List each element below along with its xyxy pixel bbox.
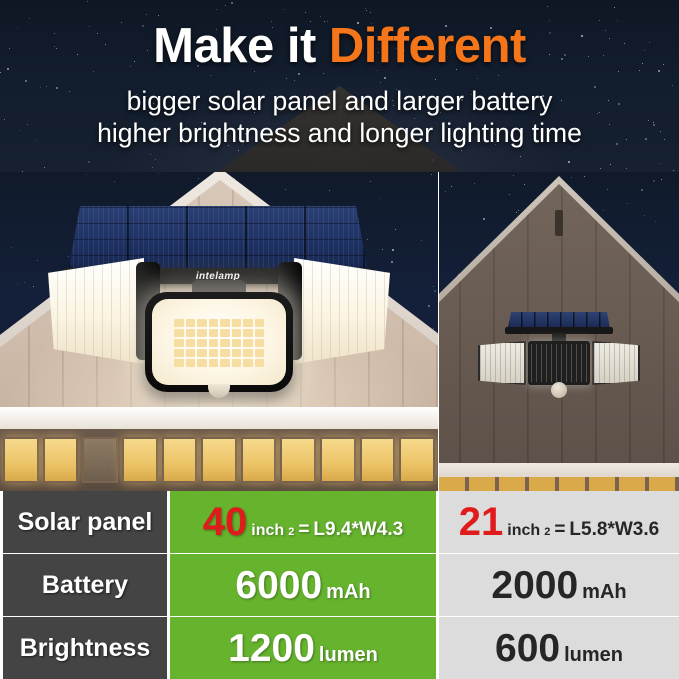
light-head-right-wing-small xyxy=(592,341,640,385)
led-dot xyxy=(232,339,242,347)
row-value-bad-solar-panel: 21inch2=L5.8*W3.6 xyxy=(439,491,679,553)
led-dot xyxy=(186,329,196,337)
value-unit: inch xyxy=(251,522,284,540)
row-value-bad-brightness: 600 lumen xyxy=(439,617,679,679)
table-row: Battery 6000 mAh 2000 mAh xyxy=(0,554,679,616)
value-number: 600 xyxy=(495,629,560,668)
light-head-left-wing xyxy=(48,258,144,364)
led-dot xyxy=(243,359,253,367)
value-detail: L9.4*W4.3 xyxy=(313,519,403,541)
motion-sensor xyxy=(208,384,230,398)
value-number: 2000 xyxy=(491,566,578,605)
title-plain-text: Make it xyxy=(153,19,329,73)
subtitle-line-1: bigger solar panel and larger battery xyxy=(0,87,679,116)
value-unit: mAh xyxy=(326,582,370,602)
house-window xyxy=(201,437,237,483)
value-unit: inch xyxy=(507,522,540,540)
wing-led-stripes-left-small xyxy=(480,343,524,383)
featured-light-fixture: intelamp xyxy=(54,206,384,396)
row-label-text: Solar panel xyxy=(18,508,153,537)
value-unit: mAh xyxy=(582,582,626,602)
row-label-brightness: Brightness xyxy=(3,617,167,679)
house-window xyxy=(43,437,79,483)
led-dot xyxy=(243,349,253,357)
led-dot xyxy=(209,339,219,347)
led-dot xyxy=(209,319,219,327)
table-row: Solar panel 40inch2=L9.4*W4.3 21inch2=L5… xyxy=(0,491,679,553)
led-dot xyxy=(186,349,196,357)
house-windows-row-right xyxy=(439,477,679,491)
led-dot xyxy=(220,329,230,337)
value-number: 6000 xyxy=(235,566,322,605)
led-dot xyxy=(209,349,219,357)
subtitle-line-2: higher brightness and longer lighting ti… xyxy=(0,119,679,148)
led-dot xyxy=(232,349,242,357)
product-photo-strip: intelamp xyxy=(0,172,679,491)
value-number: 40 xyxy=(203,502,248,542)
led-dot xyxy=(197,319,207,327)
value-detail: L5.8*W3.6 xyxy=(569,519,659,541)
photo-divider xyxy=(438,172,439,491)
solar-cells-pattern xyxy=(68,206,368,272)
led-dot xyxy=(232,329,242,337)
solar-panel-large xyxy=(68,206,368,272)
led-dot xyxy=(255,349,265,357)
house-window xyxy=(82,437,118,483)
led-dot xyxy=(174,349,184,357)
led-dot xyxy=(255,329,265,337)
house-window xyxy=(360,437,396,483)
led-dot xyxy=(243,329,253,337)
led-dot xyxy=(197,349,207,357)
solar-panel-small xyxy=(508,312,610,328)
led-dot xyxy=(220,349,230,357)
led-dot xyxy=(186,359,196,367)
row-value-bad-battery: 2000 mAh xyxy=(439,554,679,616)
led-dot xyxy=(255,359,265,367)
page-title: Make it Different xyxy=(0,22,679,71)
photo-right-competitor-product xyxy=(439,172,679,491)
measure-good-2: 1200 lumen xyxy=(228,629,378,668)
product-comparison-page: Make it Different bigger solar panel and… xyxy=(0,0,679,679)
measure-bad-0: 21inch2=L5.8*W3.6 xyxy=(459,502,659,542)
led-dot xyxy=(220,319,230,327)
led-dot xyxy=(255,339,265,347)
led-dot xyxy=(174,329,184,337)
led-dot xyxy=(243,339,253,347)
led-dot xyxy=(243,319,253,327)
value-number: 1200 xyxy=(228,629,315,668)
row-label-solar-panel: Solar panel xyxy=(3,491,167,553)
led-dot xyxy=(209,329,219,337)
house-window xyxy=(122,437,158,483)
motion-sensor-small xyxy=(551,382,567,398)
light-head-left-wing-small xyxy=(478,341,526,385)
row-value-good-battery: 6000 mAh xyxy=(170,554,436,616)
house-window xyxy=(162,437,198,483)
light-head-center xyxy=(145,292,293,392)
wing-led-stripes-right xyxy=(294,258,390,364)
wing-led-stripes-right-small xyxy=(594,343,638,383)
led-dot xyxy=(186,339,196,347)
led-dot xyxy=(174,359,184,367)
led-dot xyxy=(174,319,184,327)
value-superscript: 2 xyxy=(544,526,550,538)
roof-vent xyxy=(555,210,563,236)
led-dot xyxy=(186,319,196,327)
porch-roof-band xyxy=(0,407,438,429)
house-windows-row xyxy=(0,429,438,491)
photo-left-featured-product: intelamp xyxy=(0,172,438,491)
led-dot xyxy=(220,339,230,347)
value-unit: lumen xyxy=(319,645,378,665)
row-value-good-brightness: 1200 lumen xyxy=(170,617,436,679)
row-label-text: Battery xyxy=(42,571,128,600)
spec-comparison-table: Solar panel 40inch2=L9.4*W4.3 21inch2=L5… xyxy=(0,491,679,679)
row-value-good-solar-panel: 40inch2=L9.4*W4.3 xyxy=(170,491,436,553)
center-lens xyxy=(152,299,286,385)
value-equals: = xyxy=(298,519,309,541)
led-dot xyxy=(197,339,207,347)
led-dot xyxy=(255,319,265,327)
house-window xyxy=(399,437,435,483)
row-label-text: Brightness xyxy=(20,634,151,663)
measure-good-0: 40inch2=L9.4*W4.3 xyxy=(203,502,403,542)
measure-good-1: 6000 mAh xyxy=(235,566,370,605)
value-superscript: 2 xyxy=(288,526,294,538)
light-head-right-wing xyxy=(294,258,390,364)
house-window xyxy=(320,437,356,483)
wing-led-stripes-left xyxy=(48,258,144,364)
row-label-battery: Battery xyxy=(3,554,167,616)
house-window xyxy=(241,437,277,483)
solar-cells-pattern-small xyxy=(508,312,610,328)
led-array xyxy=(174,319,264,367)
house-window xyxy=(280,437,316,483)
led-dot xyxy=(209,359,219,367)
hero-banner: Make it Different bigger solar panel and… xyxy=(0,0,679,172)
led-dot xyxy=(232,359,242,367)
value-equals: = xyxy=(554,519,565,541)
measure-bad-2: 600 lumen xyxy=(495,629,623,668)
competitor-light-fixture xyxy=(484,312,634,422)
value-unit: lumen xyxy=(564,645,623,665)
led-dot xyxy=(220,359,230,367)
title-accent-text: Different xyxy=(329,19,526,73)
measure-bad-1: 2000 mAh xyxy=(491,566,626,605)
table-row: Brightness 1200 lumen 600 lumen xyxy=(0,617,679,679)
led-dot xyxy=(174,339,184,347)
led-dot xyxy=(197,329,207,337)
light-head-center-small xyxy=(528,341,590,385)
center-lens-small xyxy=(531,344,587,382)
house-window xyxy=(3,437,39,483)
led-dot xyxy=(197,359,207,367)
value-number: 21 xyxy=(459,502,504,542)
led-dot xyxy=(232,319,242,327)
